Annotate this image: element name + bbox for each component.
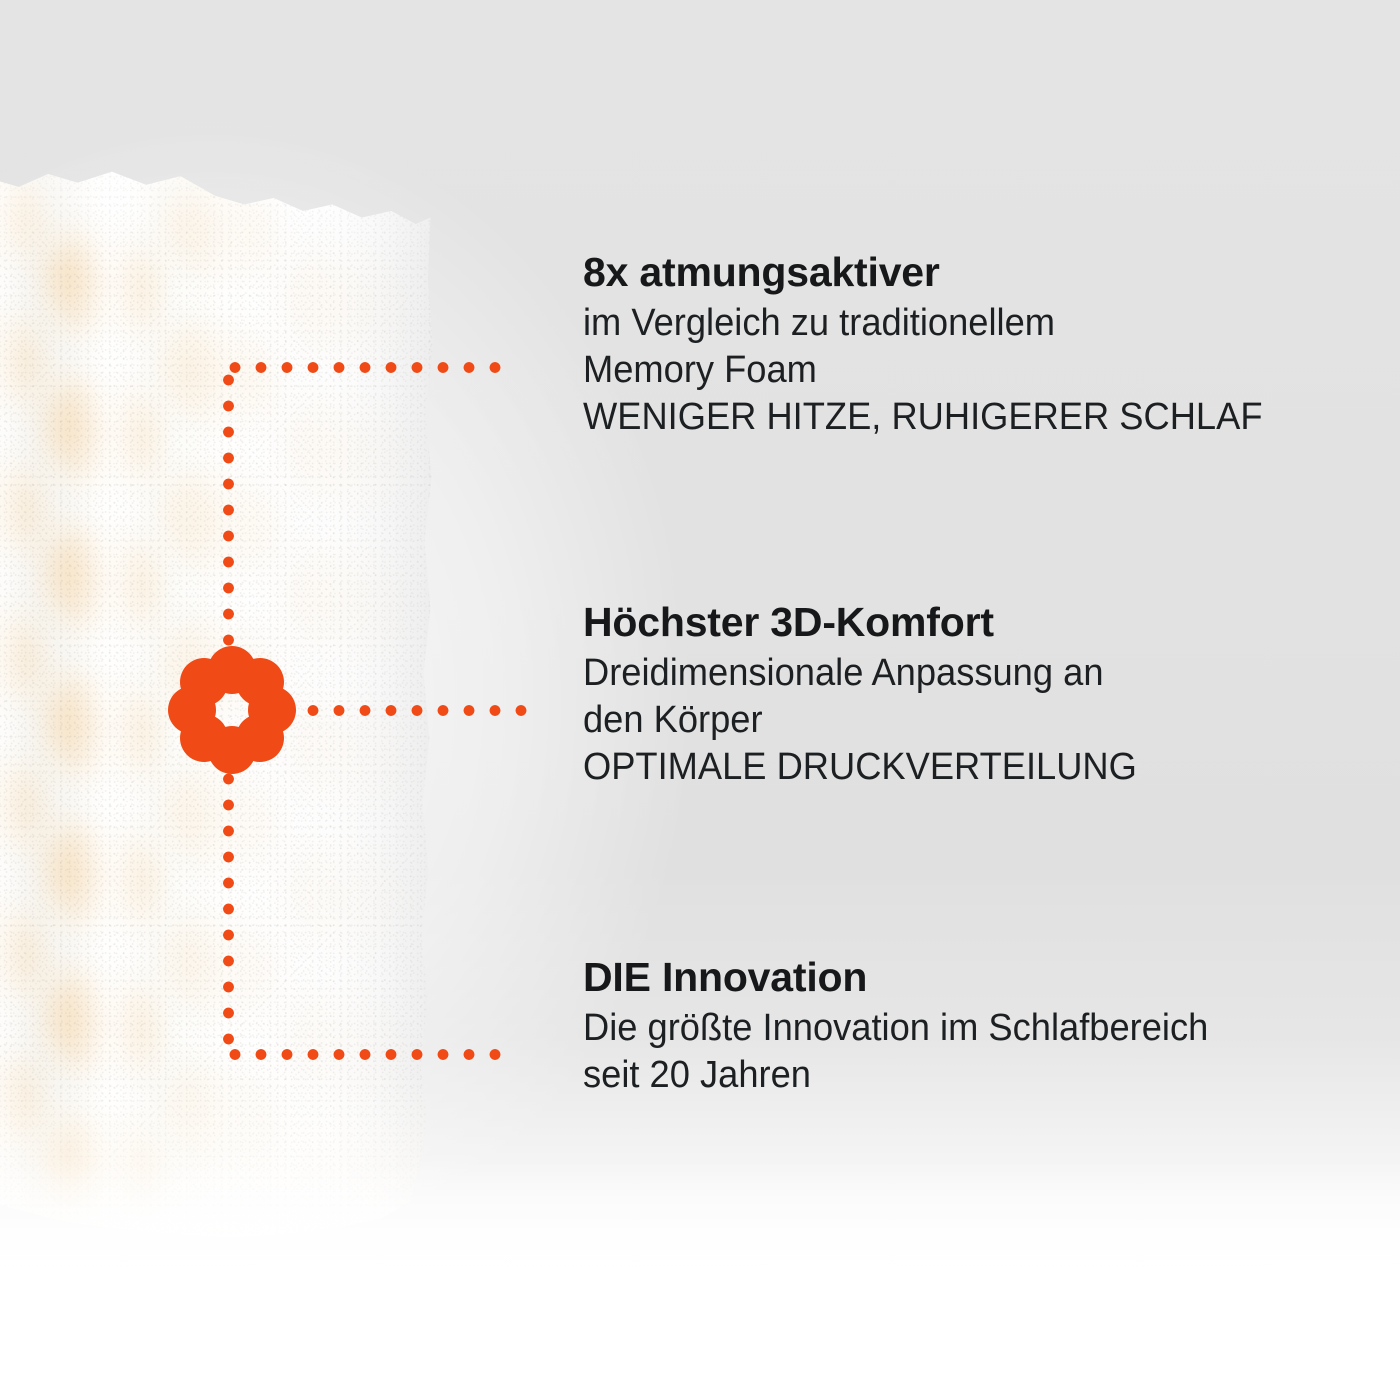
callout-line: den Körper [583, 697, 1328, 744]
callout-line: WENIGER HITZE, RUHIGERER SCHLAF [583, 394, 1328, 441]
callout-comfort: Höchster 3D-Komfort Dreidimensionale Anp… [583, 600, 1363, 791]
callout-line: seit 20 Jahren [583, 1052, 1328, 1099]
callout-headline: DIE Innovation [583, 955, 1363, 1001]
callout-headline: Höchster 3D-Komfort [583, 600, 1363, 646]
callout-breathability: 8x atmungsaktiver im Vergleich zu tradit… [583, 250, 1363, 441]
connector-bottom-vertical [222, 766, 235, 1052]
connector-top-vertical [222, 367, 235, 653]
callout-line: Memory Foam [583, 347, 1328, 394]
callout-line: Die größte Innovation im Schlafbereich [583, 1005, 1328, 1052]
infographic-canvas: 8x atmungsaktiver im Vergleich zu tradit… [0, 0, 1400, 1400]
connector-top-horizontal [222, 361, 514, 374]
callout-line: Dreidimensionale Anpassung an [583, 650, 1328, 697]
connector-bottom-horizontal [222, 1048, 514, 1061]
ring-marker [168, 646, 296, 774]
connector-middle-horizontal [300, 704, 528, 717]
callout-line: im Vergleich zu traditionellem [583, 300, 1328, 347]
callout-text-column: 8x atmungsaktiver im Vergleich zu tradit… [583, 0, 1373, 1400]
callout-line: OPTIMALE DRUCKVERTEILUNG [583, 744, 1328, 791]
callout-innovation: DIE Innovation Die größte Innovation im … [583, 955, 1363, 1099]
callout-headline: 8x atmungsaktiver [583, 250, 1363, 296]
ring-dot [180, 658, 228, 706]
